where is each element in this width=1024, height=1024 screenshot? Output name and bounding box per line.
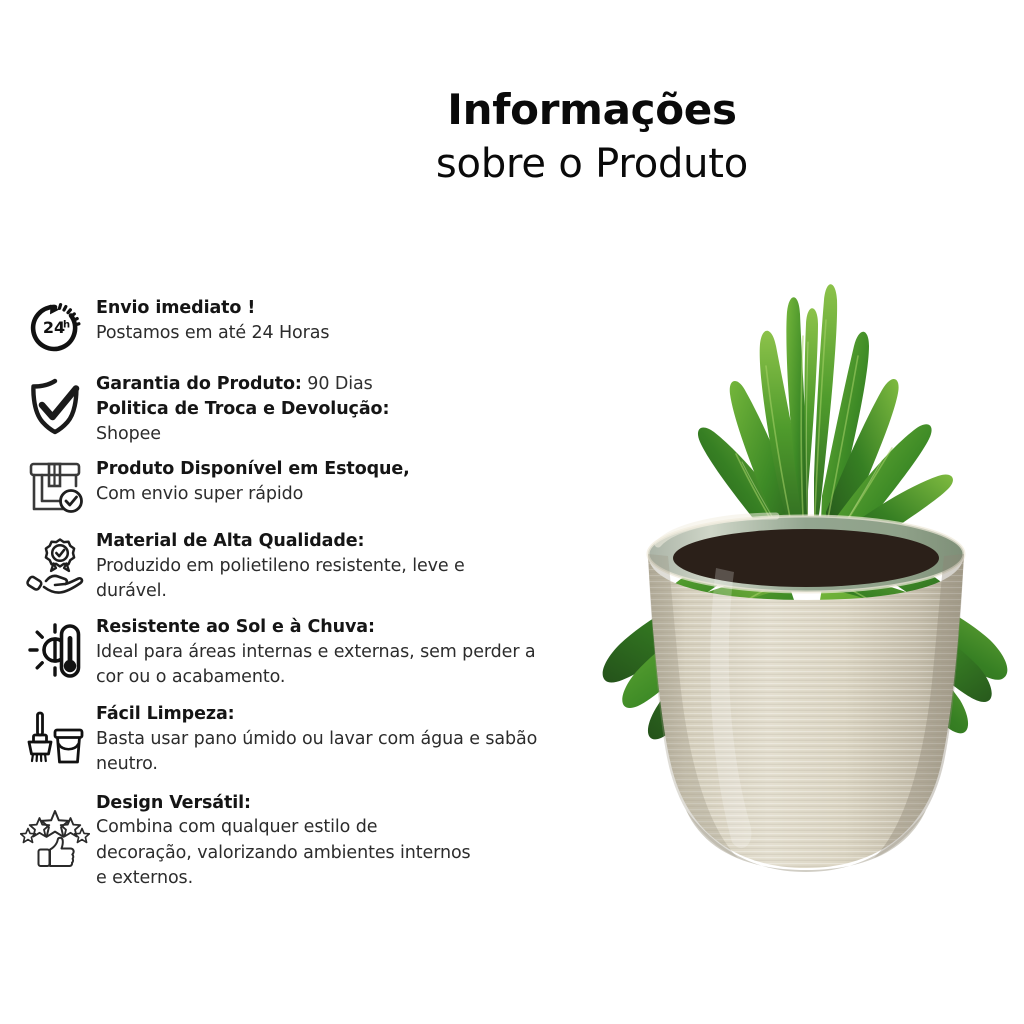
feature-item-material: Material de Alta Qualidade: Produzido em… <box>14 529 614 604</box>
feature-item-garantia: Garantia do Produto: 90 Dias Politica de… <box>14 372 614 447</box>
plant-in-pot-illustration <box>556 196 1024 916</box>
feature-body: Com envio super rápido <box>96 482 614 507</box>
feature-body: Shopee <box>96 422 614 447</box>
feature-item-envio-imediato: 24 h Envio imediato ! Postamos em até 24… <box>14 296 614 358</box>
feature-item-design-versatil: Design Versátil: Combina com qualquer es… <box>14 791 614 891</box>
feature-item-estoque: Produto Disponível em Estoque, Com envio… <box>14 457 614 517</box>
clock-24h-icon: 24 h <box>14 296 96 358</box>
feature-heading: Envio imediato ! <box>96 296 614 321</box>
product-image <box>556 196 1024 916</box>
feature-heading: Resistente ao Sol e à Chuva: <box>96 615 614 640</box>
feature-heading-value: 90 Dias <box>302 374 373 394</box>
brush-bucket-icon <box>14 702 96 766</box>
thumbs-up-stars-icon <box>14 791 96 869</box>
feature-text-block: Design Versátil: Combina com qualquer es… <box>96 791 614 891</box>
feature-text-block: Resistente ao Sol e à Chuva: Ideal para … <box>96 615 614 690</box>
product-info-infographic: Informações sobre o Produto <box>0 0 1024 1024</box>
page-title: Informações sobre o Produto <box>0 86 1024 190</box>
feature-body: Postamos em até 24 Horas <box>96 321 614 346</box>
feature-item-facil-limpeza: Fácil Limpeza: Basta usar pano úmido ou … <box>14 702 614 777</box>
feature-heading: Produto Disponível em Estoque, <box>96 457 614 482</box>
feature-heading-secondary: Politica de Troca e Devolução: <box>96 397 614 422</box>
feature-heading-bold: Garantia do Produto: <box>96 374 302 394</box>
feature-heading: Material de Alta Qualidade: <box>96 529 614 554</box>
feature-text-block: Envio imediato ! Postamos em até 24 Hora… <box>96 296 614 346</box>
hand-quality-badge-icon <box>14 529 96 597</box>
feature-body: Combina com qualquer estilo de decoração… <box>96 815 614 891</box>
feature-text-block: Fácil Limpeza: Basta usar pano úmido ou … <box>96 702 614 777</box>
title-line-1: Informações <box>160 86 1024 134</box>
feature-heading: Design Versátil: <box>96 791 614 816</box>
feature-text-block: Produto Disponível em Estoque, Com envio… <box>96 457 614 507</box>
feature-body: Produzido em polietileno resistente, lev… <box>96 554 614 604</box>
feature-text-block: Material de Alta Qualidade: Produzido em… <box>96 529 614 604</box>
planter-pot <box>648 516 964 872</box>
feature-heading: Fácil Limpeza: <box>96 702 614 727</box>
svg-text:24: 24 <box>43 318 65 337</box>
title-line-2: sobre o Produto <box>160 138 1024 190</box>
feature-heading: Garantia do Produto: 90 Dias <box>96 372 614 397</box>
feature-body: Ideal para áreas internas e externas, se… <box>96 640 614 690</box>
feature-text-block: Garantia do Produto: 90 Dias Politica de… <box>96 372 614 447</box>
shield-check-icon <box>14 372 96 436</box>
feature-body: Basta usar pano úmido ou lavar com água … <box>96 727 614 777</box>
svg-text:h: h <box>63 320 70 331</box>
sun-thermometer-icon <box>14 615 96 681</box>
feature-item-resistente-sol-chuva: Resistente ao Sol e à Chuva: Ideal para … <box>14 615 614 690</box>
box-check-icon <box>14 457 96 517</box>
feature-list: 24 h Envio imediato ! Postamos em até 24… <box>14 296 614 891</box>
